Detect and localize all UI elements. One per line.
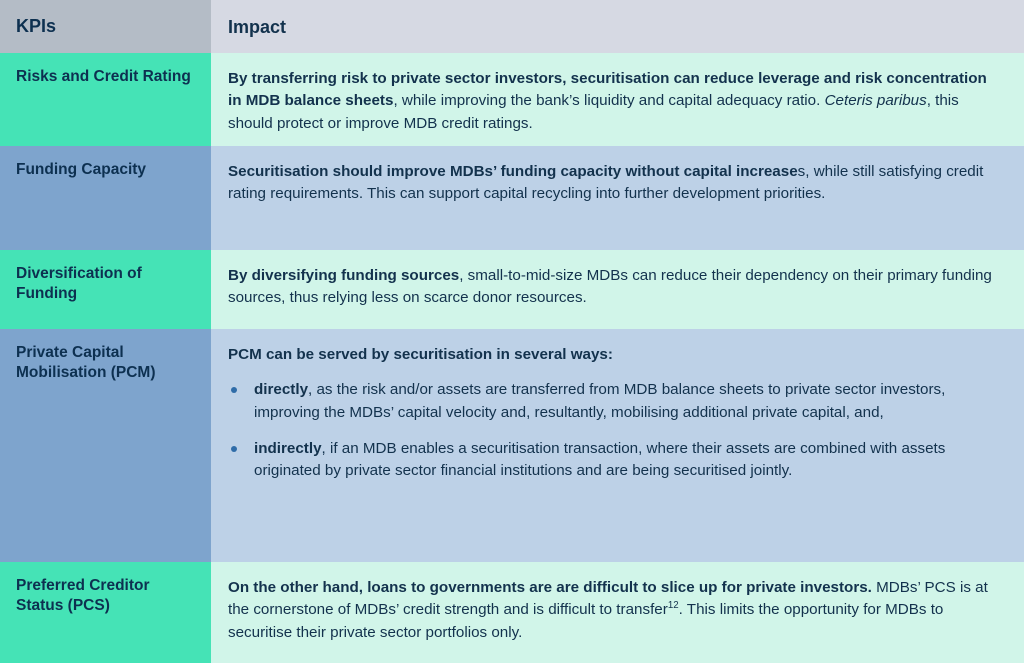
impact-cell-risks-and-credit-rating: By transferring risk to private sector i…	[211, 53, 1024, 146]
table-row-diversification-of-funding: Diversification of Funding By diversifyi…	[0, 250, 1024, 329]
header-impact-label: Impact	[228, 14, 286, 40]
impact-intro-text: PCM can be served by securitisation in s…	[228, 344, 994, 366]
impact-bullet-list: directly, as the risk and/or assets are …	[228, 379, 994, 482]
kpi-label: Risks and Credit Rating	[16, 67, 191, 87]
bullet-dot-icon	[231, 446, 237, 452]
table-header-row: KPIs Impact	[0, 0, 1024, 53]
kpi-cell-private-capital-mobilisation: Private Capital Mobilisation (PCM)	[0, 329, 211, 562]
table-row-risks-and-credit-rating: Risks and Credit Rating By transferring …	[0, 53, 1024, 146]
impact-cell-preferred-creditor-status: On the other hand, loans to governments …	[211, 562, 1024, 663]
impact-bold-text: Securitisation should improve MDBs’ fund…	[228, 163, 798, 180]
impact-plain-text: , while improving the bank’s liquidity a…	[393, 92, 824, 109]
kpi-cell-preferred-creditor-status: Preferred Creditor Status (PCS)	[0, 562, 211, 663]
kpi-cell-funding-capacity: Funding Capacity	[0, 146, 211, 250]
impact-cell-private-capital-mobilisation: PCM can be served by securitisation in s…	[211, 329, 1024, 562]
footnote-marker: 12	[668, 600, 679, 611]
kpi-label: Funding Capacity	[16, 160, 146, 180]
list-item: indirectly, if an MDB enables a securiti…	[228, 438, 994, 483]
bullet-bold-text: directly	[254, 381, 308, 398]
kpi-cell-risks-and-credit-rating: Risks and Credit Rating	[0, 53, 211, 146]
impact-bold-text: On the other hand, loans to governments …	[228, 579, 872, 596]
bullet-plain-text: , as the risk and/or assets are transfer…	[254, 381, 945, 420]
kpi-label: Preferred Creditor Status (PCS)	[16, 576, 197, 617]
table-row-funding-capacity: Funding Capacity Securitisation should i…	[0, 146, 1024, 250]
bullet-bold-text: indirectly	[254, 440, 322, 457]
header-kpis-label: KPIs	[16, 15, 56, 39]
impact-italic-text: Ceteris paribus	[825, 92, 927, 109]
header-cell-kpis: KPIs	[0, 0, 211, 53]
impact-cell-funding-capacity: Securitisation should improve MDBs’ fund…	[211, 146, 1024, 250]
kpi-cell-diversification-of-funding: Diversification of Funding	[0, 250, 211, 329]
table-row-preferred-creditor-status: Preferred Creditor Status (PCS) On the o…	[0, 562, 1024, 663]
list-item: directly, as the risk and/or assets are …	[228, 379, 994, 424]
impact-cell-diversification-of-funding: By diversifying funding sources, small-t…	[211, 250, 1024, 329]
bullet-dot-icon	[231, 387, 237, 393]
kpi-impact-table: KPIs Impact Risks and Credit Rating By t…	[0, 0, 1024, 667]
kpi-label: Diversification of Funding	[16, 264, 197, 305]
table-row-private-capital-mobilisation: Private Capital Mobilisation (PCM) PCM c…	[0, 329, 1024, 562]
header-cell-impact: Impact	[211, 0, 1024, 53]
bullet-plain-text: , if an MDB enables a securitisation tra…	[254, 440, 945, 479]
kpi-label: Private Capital Mobilisation (PCM)	[16, 343, 197, 384]
impact-bold-text: By diversifying funding sources	[228, 267, 459, 284]
